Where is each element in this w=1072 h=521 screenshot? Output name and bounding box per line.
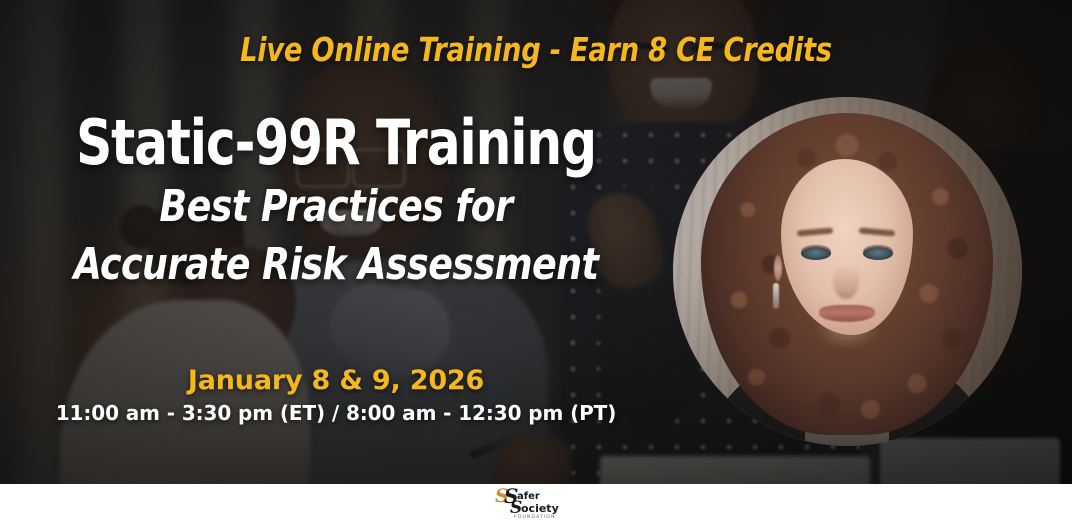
page-title: Static-99R Training [34,112,639,174]
safer-society-foundation-logo[interactable]: S S afer S ociety FOUNDATION [493,486,579,519]
event-time: 11:00 am - 3:30 pm (ET) / 8:00 am - 12:3… [0,401,672,425]
event-date: January 8 & 9, 2026 [0,365,672,396]
logo-word-bottom: ociety [521,502,559,515]
speaker-portrait-circle [673,97,1022,446]
title-block: Static-99R Training Best Practices for A… [0,112,672,288]
footer-bar: S S afer S ociety FOUNDATION [0,484,1072,521]
logo-subtitle: FOUNDATION [514,514,556,519]
subtitle-line-2: Accurate Risk Assessment [27,242,645,288]
subtitle-line-1: Best Practices for [27,184,645,230]
logo-svg: S S afer S ociety FOUNDATION [493,486,579,519]
webinar-promo-banner: Live Online Training - Earn 8 CE Credits… [0,0,1072,521]
portrait-vignette [673,97,1022,446]
kicker-headline: Live Online Training - Earn 8 CE Credits [43,30,1029,69]
